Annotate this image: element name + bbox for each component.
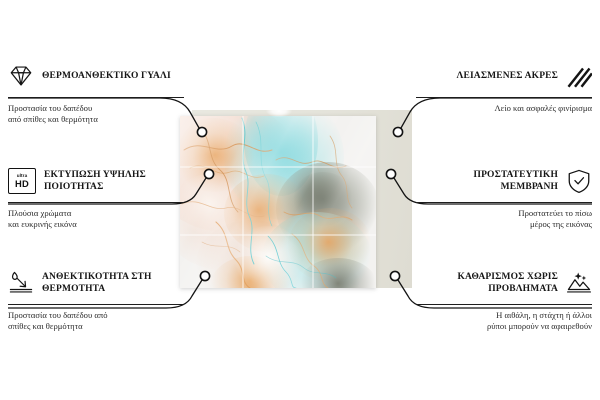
diamond-icon xyxy=(8,63,34,89)
easy-cleaning-icon xyxy=(566,270,592,296)
feature-description: Λείο και ασφαλές φινίρισμα xyxy=(416,103,592,114)
feature-title: ΑΝΘΕΚΤΙΚΟΤΗΤΑ ΣΤΗ ΘΕΡΜΟΤΗΤΑ xyxy=(42,271,184,296)
feature-title: ΛΕΙΑΣΜΕΝΕΣ ΑΚΡΕΣ xyxy=(457,70,558,83)
feature-high-quality-print: ultra HD ΕΚΤΥΠΩΣΗ ΥΨΗΛΗΣ ΠΟΙΟΤΗΤΑΣ Πλούσ… xyxy=(8,163,184,231)
ultra-hd-icon-large-label: HD xyxy=(15,179,29,188)
shield-check-icon xyxy=(566,168,592,194)
feature-heat-resistant-glass: ΘΕΡΜΟΑΝΘΕΚΤΙΚΟ ΓΥΑΛΙ Προστασία του δαπέδ… xyxy=(8,58,184,126)
feature-description: Προστατεύει το πίσωμέρος της εικόνας xyxy=(416,208,592,231)
infographic-canvas: ΘΕΡΜΟΑΝΘΕΚΤΙΚΟ ΓΥΑΛΙ Προστασία του δαπέδ… xyxy=(0,0,600,400)
feature-protective-membrane: ΠΡΟΣΤΑΤΕΥΤΙΚΗ ΜΕΜΒΡΑΝΗ Προστατεύει το πί… xyxy=(416,163,592,231)
divider xyxy=(416,202,592,203)
feature-title: ΘΕΡΜΟΑΝΘΕΚΤΙΚΟ ΓΥΑΛΙ xyxy=(42,70,171,83)
feature-heat-resistance: ΑΝΘΕΚΤΙΚΟΤΗΤΑ ΣΤΗ ΘΕΡΜΟΤΗΤΑ Προστασία το… xyxy=(8,265,184,333)
marble-artwork xyxy=(180,116,376,288)
feature-description: Προστασία του δαπέδουαπό σπίθες και θερμ… xyxy=(8,103,184,126)
feature-title: ΚΑΘΑΡΙΣΜΟΣ ΧΩΡΙΣ ΠΡΟΒΛΗΜΑΤΑ xyxy=(416,271,558,296)
ultra-hd-icon: ultra HD xyxy=(8,168,36,194)
divider xyxy=(416,304,592,305)
product-image xyxy=(180,110,412,290)
divider xyxy=(8,304,184,305)
divider xyxy=(8,202,184,203)
divider xyxy=(8,97,184,98)
feature-polished-edges: ΛΕΙΑΣΜΕΝΕΣ ΑΚΡΕΣ Λείο και ασφαλές φινίρι… xyxy=(416,58,592,114)
feature-title: ΠΡΟΣΤΑΤΕΥΤΙΚΗ ΜΕΜΒΡΑΝΗ xyxy=(416,169,558,194)
feature-description: Πλούσια χρώματακαι ευκρινής εικόνα xyxy=(8,208,184,231)
polished-edges-icon xyxy=(566,63,592,89)
feature-description: Προστασία του δαπέδου απόσπίθες και θερμ… xyxy=(8,310,184,333)
divider xyxy=(416,97,592,98)
printed-glass-panel xyxy=(180,116,376,288)
feature-description: Η αιθάλη, η στάχτη ή άλλοιρύποι μπορούν … xyxy=(416,310,592,333)
feature-title: ΕΚΤΥΠΩΣΗ ΥΨΗΛΗΣ ΠΟΙΟΤΗΤΑΣ xyxy=(44,169,184,194)
feature-easy-cleaning: ΚΑΘΑΡΙΣΜΟΣ ΧΩΡΙΣ ΠΡΟΒΛΗΜΑΤΑ Η αιθάλη, η … xyxy=(416,265,592,333)
heat-resistance-icon xyxy=(8,270,34,296)
ink-veins xyxy=(180,116,376,288)
